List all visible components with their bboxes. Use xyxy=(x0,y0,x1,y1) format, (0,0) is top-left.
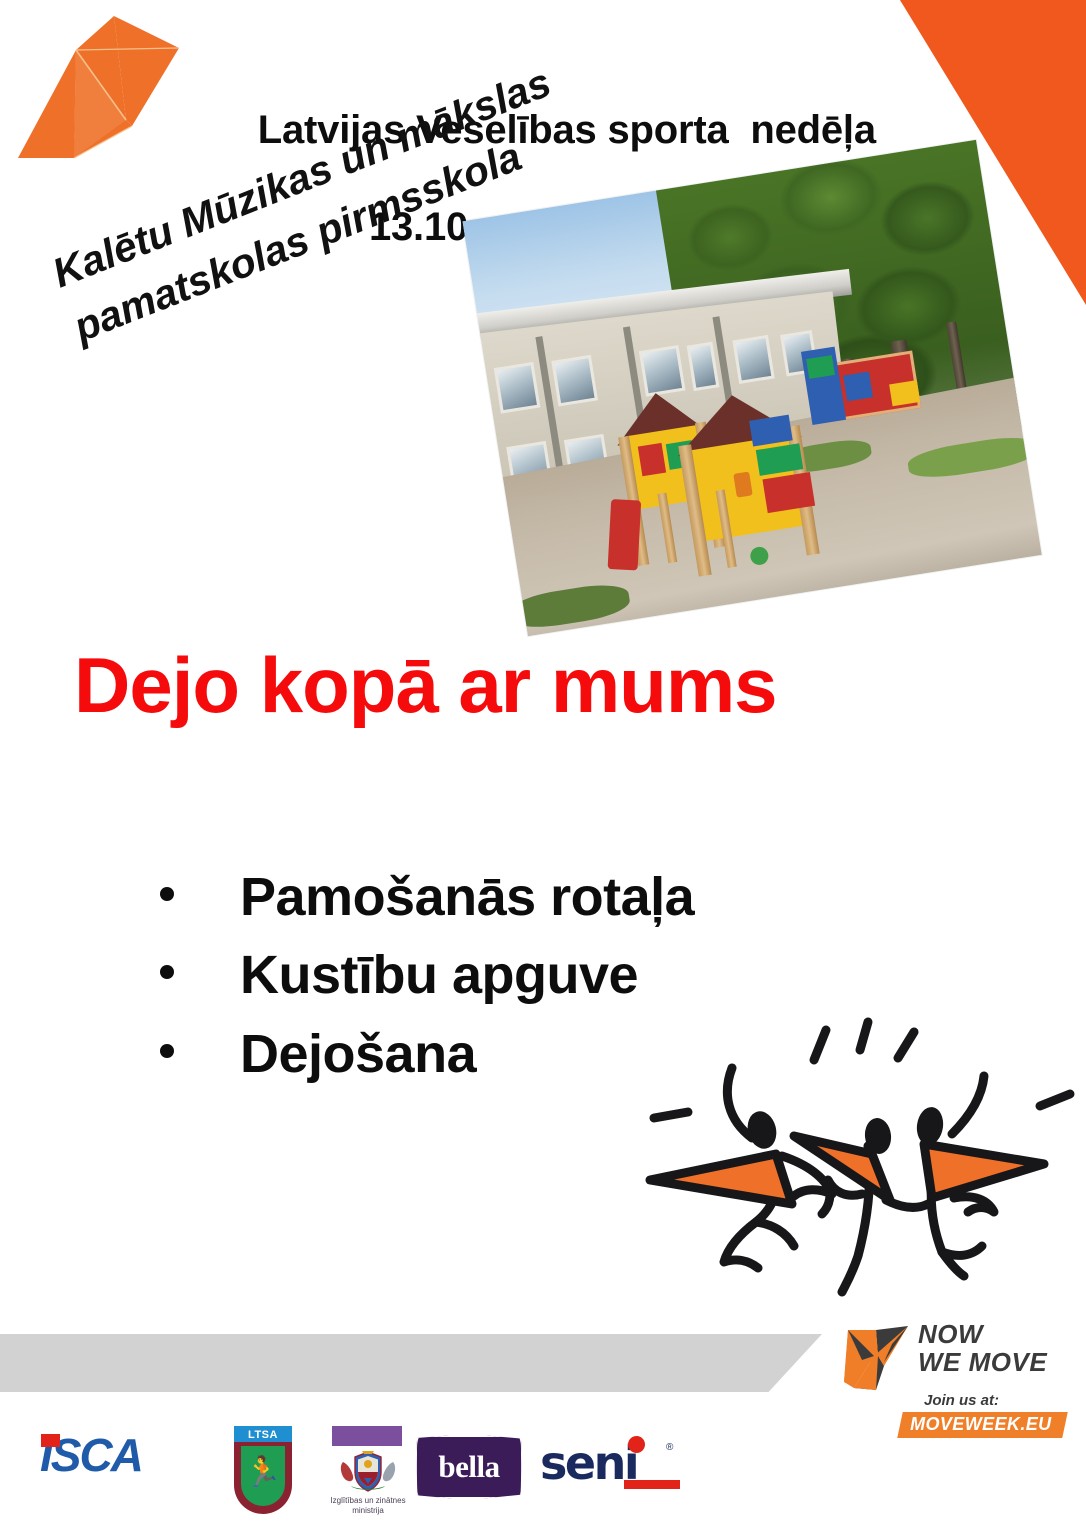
activity-list: Pamošanās rotaļa Kustību apguve Dejošana xyxy=(160,858,694,1093)
play-tower-panel xyxy=(638,443,666,476)
activity-label: Kustību apguve xyxy=(240,936,638,1014)
footer-band xyxy=(0,1334,822,1392)
nwm-url-badge[interactable]: MOVEWEEK.EU xyxy=(897,1412,1068,1438)
isca-red-accent-icon xyxy=(41,1434,60,1447)
sponsor-logo-row: ISCA LTSA 🏃 xyxy=(0,1418,700,1536)
bullet-dot-icon xyxy=(160,1044,174,1058)
bullet-dot-icon xyxy=(160,965,174,979)
latvia-coat-of-arms-icon xyxy=(337,1450,399,1492)
photo-scene xyxy=(462,140,1041,636)
running-figure-icon: 🏃 xyxy=(244,1458,281,1488)
seni-underline-icon xyxy=(624,1480,680,1489)
list-item: Pamošanās rotaļa xyxy=(160,858,694,936)
nwm-line-1: NOW xyxy=(918,1320,1047,1348)
ltsa-shield-inner: 🏃 xyxy=(241,1446,285,1506)
play-train-panel xyxy=(889,380,920,406)
sponsor-logo-bella: bella xyxy=(414,1434,524,1500)
building-window xyxy=(551,355,598,407)
sponsor-logo-ltsa: LTSA 🏃 xyxy=(228,1426,298,1518)
sponsor-logo-seni: seni ® xyxy=(540,1440,680,1500)
nwm-wordmark: NOW WE MOVE xyxy=(918,1320,1047,1376)
activity-label: Dejošana xyxy=(240,1015,476,1093)
ministry-purple-bar xyxy=(332,1426,402,1446)
play-train-panel xyxy=(806,355,835,379)
sponsor-logo-isca: ISCA xyxy=(40,1432,190,1484)
ministry-caption: Izglītības un zinātnes ministrija xyxy=(318,1496,418,1516)
now-we-move-logo: NOW WE MOVE Join us at: MOVEWEEK.EU xyxy=(840,1318,1086,1446)
sponsor-logo-ministry: Izglītības un zinātnes ministrija xyxy=(318,1424,418,1534)
list-item: Kustību apguve xyxy=(160,936,694,1014)
play-train-window xyxy=(843,372,873,402)
headline: Dejo kopā ar mums xyxy=(74,640,777,731)
building-window xyxy=(639,345,686,397)
ltsa-banner: LTSA xyxy=(234,1426,292,1443)
building-window xyxy=(732,335,774,384)
seni-trademark: ® xyxy=(666,1442,673,1453)
nwm-arrow-mark-icon xyxy=(840,1322,912,1394)
activity-label: Pamošanās rotaļa xyxy=(240,858,694,936)
dancing-figures-icon xyxy=(636,1008,1076,1308)
play-slide xyxy=(608,499,642,570)
building-window xyxy=(494,362,541,414)
isca-wordmark: ISCA xyxy=(40,1432,190,1478)
kindergarten-playground-photo xyxy=(462,140,1041,636)
ltsa-wordmark: LTSA xyxy=(248,1429,278,1441)
ltsa-shield-icon: 🏃 xyxy=(234,1442,292,1514)
poster-canvas: Latvijas Veselības sporta nedēļa 13.10. … xyxy=(0,0,1086,1536)
seni-dot-icon xyxy=(628,1436,645,1453)
nwm-line-2: WE MOVE xyxy=(918,1348,1047,1376)
list-item: Dejošana xyxy=(160,1015,694,1093)
nwm-join-label: Join us at: xyxy=(924,1392,999,1409)
bella-wordmark: bella xyxy=(414,1449,524,1485)
nwm-url-text: MOVEWEEK.EU xyxy=(910,1414,1051,1435)
bullet-dot-icon xyxy=(160,887,174,901)
